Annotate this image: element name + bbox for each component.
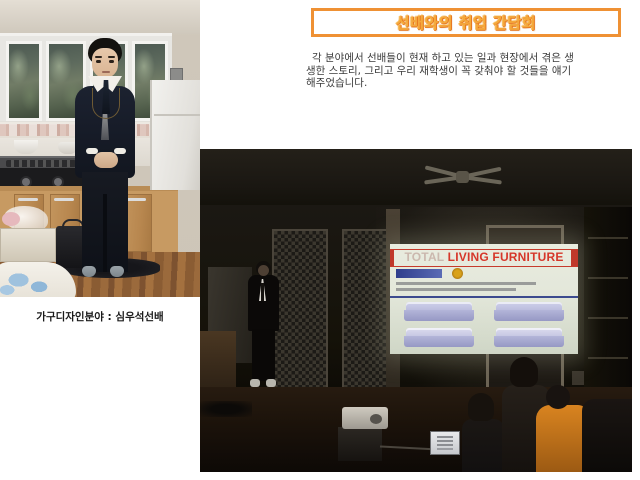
wall-outlet [572, 371, 584, 385]
slide-text-line [396, 282, 536, 285]
mattress-grid [400, 302, 570, 350]
eyebrow [95, 56, 102, 58]
photo-presenter-in-kitchen [0, 0, 200, 297]
ceiling [200, 149, 632, 211]
shirt-cuff [114, 148, 126, 154]
slide-title-box: 선배와의 취업 간담회 [311, 8, 621, 37]
company-logo [396, 269, 442, 278]
projector-stand [338, 427, 382, 461]
mattress-image [402, 302, 476, 323]
presenter-silhouette [246, 261, 280, 391]
ceiling-fan-icon [424, 169, 502, 185]
range-knob [54, 178, 62, 186]
photo-projection-room: TOTAL LIVING FURNITURE [200, 149, 632, 472]
range-knob [22, 178, 30, 186]
audience-member [462, 393, 504, 472]
slide-logo-row [396, 269, 506, 279]
mattress-image [492, 302, 566, 323]
floor-mat [200, 401, 252, 417]
eye [109, 60, 114, 63]
certification-seal-icon [452, 268, 463, 279]
cabinet-handle [18, 198, 38, 201]
fan-hub [456, 171, 469, 183]
mattress-image [492, 328, 566, 349]
presenter-tie [261, 283, 264, 301]
slide-text-line [396, 288, 516, 291]
presenter-sock [250, 379, 260, 387]
slide-divider [390, 296, 578, 298]
audience-member [582, 399, 632, 472]
slide-body-text: 각 분야에서 선배들이 현재 하고 있는 일과 현장에서 겪은 생 생한 스토리… [306, 52, 632, 90]
left-photo-caption: 가구디자인분야 : 심우석선배 [0, 309, 200, 324]
lanyard [92, 88, 120, 119]
cabinet-handle [54, 198, 74, 201]
standing-presenter [72, 38, 138, 278]
refrigerator [150, 80, 200, 190]
face [92, 48, 118, 78]
trousers [82, 172, 128, 272]
body-line: 각 분야에서 선배들이 현재 하고 있는 일과 현장에서 겪은 생 [306, 52, 632, 65]
body-line: 해주었습니다. [306, 77, 632, 90]
projected-slide-title: TOTAL LIVING FURNITURE [390, 250, 578, 264]
pink-object [2, 212, 20, 226]
sock [82, 266, 96, 277]
presenter-sock [266, 379, 276, 387]
projector [342, 407, 388, 429]
laptop [428, 431, 462, 461]
clasped-hands [94, 152, 118, 168]
mattress-image [402, 328, 476, 349]
mesh-door [272, 229, 328, 397]
sock [110, 266, 124, 277]
presenter-legs [252, 329, 275, 381]
page-title: 선배와의 취업 간담회 [396, 12, 536, 33]
audience-member [536, 385, 588, 472]
projection-screen: TOTAL LIVING FURNITURE [390, 244, 578, 354]
window-pane [6, 41, 42, 121]
projected-slide-title-dim: TOTAL [404, 250, 444, 264]
projected-slide-title-main: LIVING FURNITURE [448, 250, 564, 264]
upper-wall-strip [0, 0, 200, 34]
laptop-screen [430, 431, 460, 455]
mouth [102, 71, 110, 73]
cardboard-box [0, 228, 56, 262]
eyebrow [108, 56, 115, 58]
presenter-face [258, 265, 269, 276]
body-line: 생한 스토리, 그리고 우리 재학생이 꼭 갖춰야 할 것들을 얘기 [306, 65, 632, 78]
eye [96, 60, 101, 63]
